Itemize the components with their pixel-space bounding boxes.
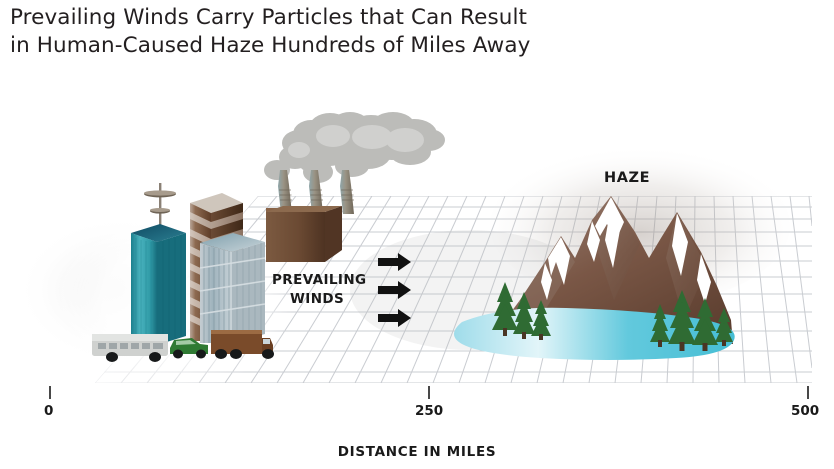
scene-illustration [0,0,834,469]
prevailing-winds-label-line2: WINDS [290,291,344,307]
wind-arrows [378,253,411,327]
axis-label-0: 0 [44,403,53,419]
axis-title: DISTANCE IN MILES [0,444,834,460]
axis-label-500: 500 [791,403,819,419]
building-teal-tower [131,183,186,345]
prevailing-winds-label-line1: PREVAILING [272,272,367,288]
factory-building [266,206,342,262]
city-skyline [55,183,295,390]
infographic-root: Prevailing Winds Carry Particles that Ca… [0,0,834,469]
axis-label-250: 250 [415,403,443,419]
building-glass-office [200,233,265,343]
haze-label: HAZE [604,170,650,186]
